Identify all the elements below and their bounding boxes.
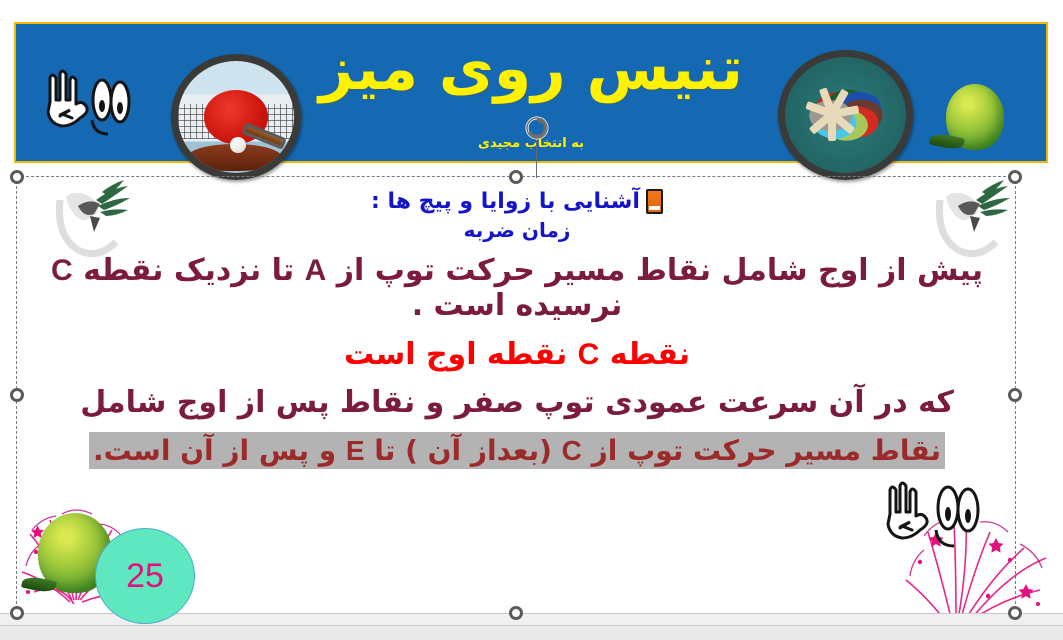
highlight-point-e: E (346, 435, 365, 466)
point-label-a: A (305, 254, 327, 287)
paragraph-before-peak: پیش از اوج شامل نقاط مسیر حرکت توپ از A … (47, 253, 987, 324)
green-apple-icon (946, 84, 1004, 150)
paragraph-1-part-c: نرسیده است . (412, 288, 623, 323)
resize-handle-middle-left[interactable] (10, 388, 24, 402)
dove-olive-branch-icon (930, 178, 1014, 264)
emphasis-peak-point: نقطه C نقطه اوج است (47, 337, 987, 372)
cartoon-hand-eyes-icon (880, 478, 990, 553)
heading-secondary: زمان ضربه (47, 219, 987, 243)
highlight-point-c: C (562, 435, 582, 466)
resize-handle-bottom-left[interactable] (10, 606, 24, 620)
emphasis-point-c: C (578, 338, 600, 371)
highlighted-paragraph: نقاط مسیر حرکت توپ از C (بعداز آن ) تا E… (89, 432, 945, 469)
page-number-value: 25 (126, 557, 164, 596)
book-icon (646, 189, 663, 214)
resize-handle-middle-right[interactable] (1008, 388, 1022, 402)
emphasis-part-b: نقطه اوج است (344, 337, 578, 372)
resize-handle-bottom-right[interactable] (1008, 606, 1022, 620)
slide-body-text[interactable]: آشنایی با زوایا و پیچ ها : زمان ضربه پیش… (47, 185, 987, 472)
rotate-handle-stem (536, 138, 537, 178)
highlight-part-b: (بعداز آن ) تا (365, 434, 562, 467)
resize-handle-bottom-middle[interactable] (509, 606, 523, 620)
rotate-handle-icon[interactable] (524, 115, 550, 141)
emphasis-part-a: نقطه (599, 337, 690, 372)
paragraph-1-part-a: پیش از اوج شامل نقاط مسیر حرکت توپ از (326, 253, 983, 288)
resize-handle-top-middle[interactable] (509, 170, 523, 184)
highlight-part-a: نقاط مسیر حرکت توپ از (582, 434, 941, 467)
highlight-part-c: و پس از آن است. (93, 434, 346, 467)
colored-paddles-photo (778, 50, 913, 180)
page-number-badge: 25 (95, 528, 195, 624)
dove-olive-branch-icon (50, 178, 134, 264)
slide-canvas[interactable]: تنیس روی میز به انتخاب مجیدی (0, 0, 1063, 639)
paragraph-vertical-speed: که در آن سرعت عمودی توپ صفر و نقاط پس از… (47, 385, 987, 420)
heading-primary: آشنایی با زوایا و پیچ ها : (371, 189, 640, 215)
resize-handle-top-right[interactable] (1008, 170, 1022, 184)
highlighted-paragraph-row: نقاط مسیر حرکت توپ از C (بعداز آن ) تا E… (47, 430, 987, 472)
app-bottom-bar (0, 625, 1063, 640)
title-banner[interactable]: تنیس روی میز به انتخاب مجیدی (14, 22, 1048, 163)
heading-primary-row: آشنایی با زوایا و پیچ ها : (47, 189, 987, 215)
resize-handle-top-left[interactable] (10, 170, 24, 184)
